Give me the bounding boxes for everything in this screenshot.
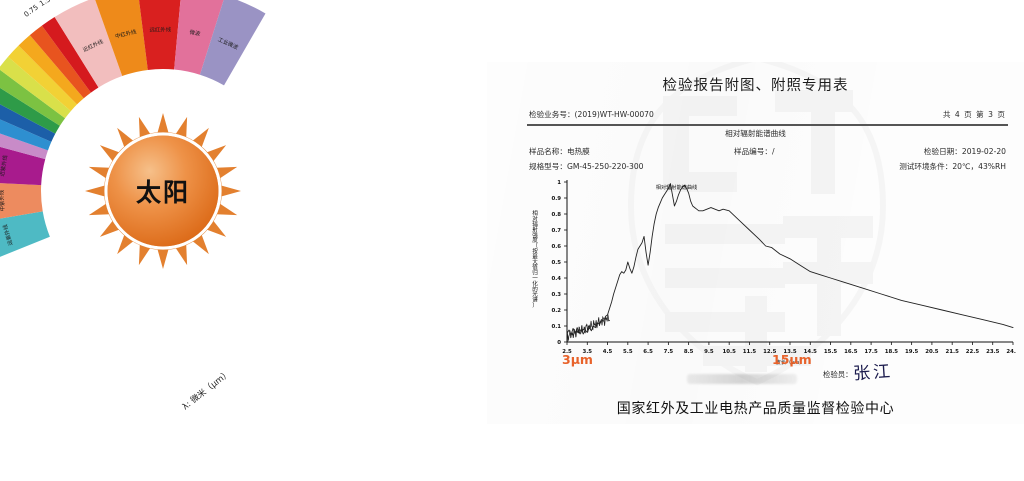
- x-tick-label: 10.5: [723, 349, 737, 355]
- x-tick-label: 5.5: [623, 349, 633, 355]
- svg-text:）: ）: [532, 302, 538, 309]
- marker-3um: 3μm: [562, 352, 593, 367]
- x-tick-label: 24.5: [1006, 349, 1016, 355]
- spectral-curve-chart: 00.10.20.30.40.50.60.70.80.912.53.54.55.…: [521, 176, 1016, 376]
- sun-graphic: 太阳: [84, 112, 242, 270]
- y-tick-label: 0.7: [551, 228, 561, 234]
- x-tick-label: 4.5: [603, 349, 613, 355]
- curve-caption: 相对辐射能谱曲线: [487, 128, 1024, 139]
- page-info: 共 4 页 第 3 页: [943, 109, 1006, 120]
- x-tick-label: 23.5: [986, 349, 1000, 355]
- inspector-label: 检验员：: [823, 369, 853, 380]
- test-date: 检验日期：2019-02-20: [924, 146, 1006, 157]
- x-tick-label: 18.5: [885, 349, 899, 355]
- test-condition: 测试环境条件：20℃，43%RH: [899, 161, 1006, 172]
- stamp-smudge: [687, 374, 797, 384]
- screenshot-root: 远紫外线中紫外线近紫外线近红外线中红外线远红外线微波工业微波0.20.40.75…: [0, 0, 1024, 481]
- curve-annotation: 相对辐射能谱曲线: [656, 183, 698, 191]
- header-divider: [527, 124, 1008, 126]
- x-tick-label: 20.5: [925, 349, 939, 355]
- solar-spectrum-diagram: 远紫外线中紫外线近紫外线近红外线中红外线远红外线微波工业微波0.20.40.75…: [0, 0, 470, 481]
- x-tick-label: 21.5: [946, 349, 960, 355]
- sun-label: 太阳: [84, 112, 242, 270]
- business-number: 检验业务号：(2019)WT-HW-00070: [529, 109, 654, 120]
- spectral-curve-noise: [567, 314, 610, 340]
- y-tick-label: 0.1: [551, 324, 561, 330]
- inspector-signature: 张江: [852, 357, 894, 385]
- y-tick-label: 0: [557, 340, 561, 346]
- x-tick-label: 7.5: [664, 349, 674, 355]
- y-tick-label: 0.9: [551, 196, 561, 202]
- y-tick-label: 0.6: [551, 244, 561, 250]
- y-tick-label: 0.2: [551, 308, 561, 314]
- y-axis-label: 相对辐射强度（按最大值归一化的光谱）: [532, 209, 538, 309]
- sample-number: 样品编号：/: [734, 146, 775, 157]
- x-tick-label: 6.5: [643, 349, 653, 355]
- y-tick-label: 0.5: [551, 260, 561, 266]
- marker-15um: 15μm: [772, 352, 812, 367]
- y-tick-label: 0.4: [551, 276, 561, 282]
- report-title: 检验报告附图、附照专用表: [487, 74, 1024, 95]
- inspection-report-scan: 检验报告附图、附照专用表 检验业务号：(2019)WT-HW-00070 共 4…: [487, 62, 1024, 424]
- x-tick-label: 9.5: [704, 349, 714, 355]
- fan-tick-label: 1.5: [38, 0, 52, 8]
- spectral-curve: [567, 184, 1013, 335]
- x-tick-label: 16.5: [844, 349, 858, 355]
- x-tick-label: 19.5: [905, 349, 919, 355]
- fan-axis-label: λ: 微米（μm）: [180, 368, 233, 413]
- sample-model: 规格型号：GM-45-250-220-300: [529, 161, 644, 172]
- y-tick-label: 0.8: [551, 212, 561, 218]
- y-tick-label: 0.3: [551, 292, 561, 298]
- x-tick-label: 17.5: [864, 349, 878, 355]
- y-tick-label: 1: [557, 180, 561, 186]
- center-footer: 国家红外及工业电热产品质量监督检验中心: [487, 398, 1024, 418]
- x-tick-label: 8.5: [684, 349, 694, 355]
- fan-tick-label: 0.75: [23, 3, 40, 19]
- sample-name: 样品名称：电热膜: [529, 146, 590, 157]
- x-tick-label: 11.5: [743, 349, 757, 355]
- x-tick-label: 22.5: [966, 349, 980, 355]
- x-tick-label: 15.5: [824, 349, 838, 355]
